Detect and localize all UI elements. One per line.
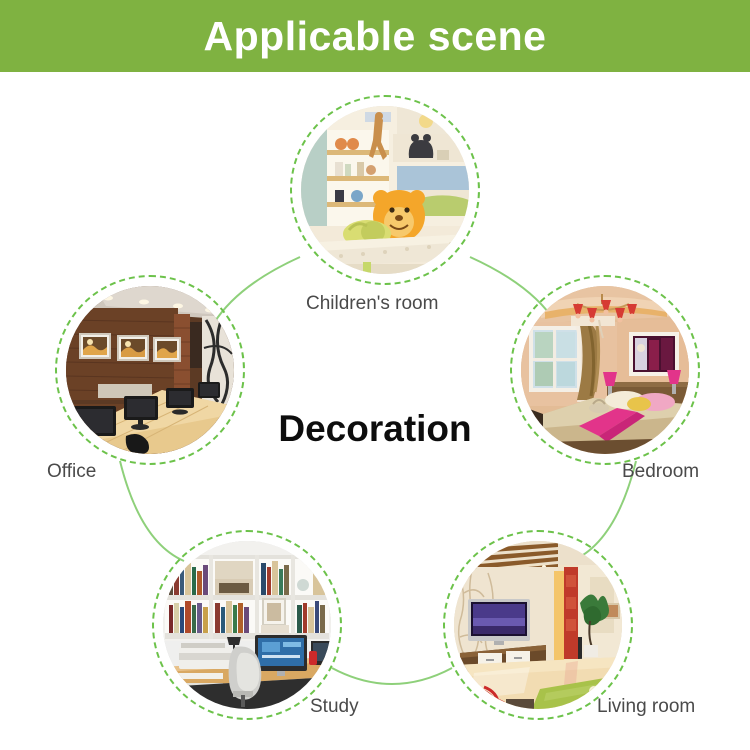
dashed-ring (290, 95, 480, 285)
node-label-bedroom: Bedroom (622, 462, 699, 481)
node-label-office: Office (47, 462, 96, 481)
page-title: Applicable scene (204, 16, 547, 57)
diagram-stage: Children's room (0, 72, 750, 750)
center-label: Decoration (0, 410, 750, 447)
node-study[interactable] (152, 530, 342, 720)
dashed-ring (443, 530, 633, 720)
node-label-living-room: Living room (597, 697, 695, 716)
header-bar: Applicable scene (0, 0, 750, 72)
node-label-study: Study (310, 697, 359, 716)
infographic-page: Applicable scene (0, 0, 750, 750)
dashed-ring (152, 530, 342, 720)
node-childrens-room[interactable] (290, 95, 480, 285)
node-label-childrens-room: Children's room (306, 294, 438, 313)
node-living[interactable] (443, 530, 633, 720)
